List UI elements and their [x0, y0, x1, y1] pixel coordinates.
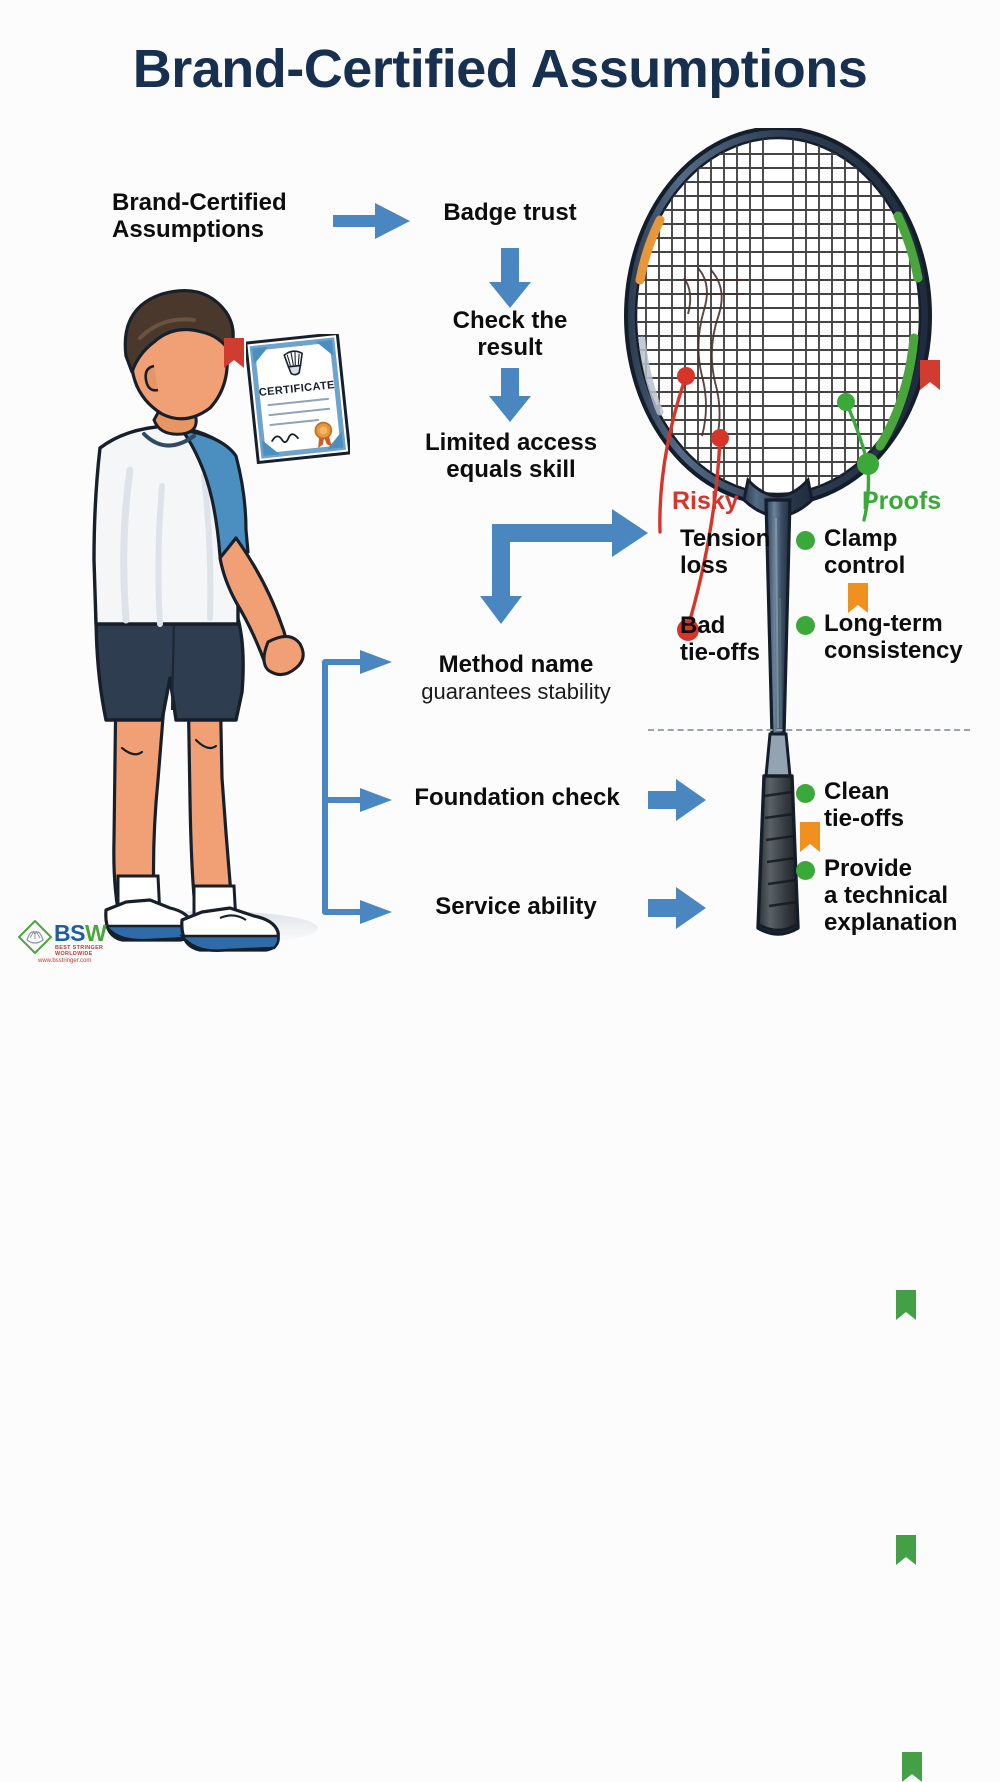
- proofs-list-item-clean-tie-offs[interactable]: Clean tie-offs: [796, 778, 946, 832]
- flow-node-label: Method name: [396, 652, 636, 679]
- proofs-bullet-green-icon: [796, 531, 815, 550]
- risky-list-item-bad-tie-offs[interactable]: Bad tie-offs: [652, 612, 772, 666]
- page-title: Brand-Certified Assumptions: [0, 38, 1000, 100]
- flow-node-sublabel: guarantees stability: [396, 679, 636, 704]
- bookmark-orange-icon: [848, 583, 868, 613]
- risky-list-item-tension-loss[interactable]: Tension loss: [652, 525, 767, 579]
- bsw-logo-wordmark: BSW: [54, 920, 106, 947]
- proofs-item-label: Provide a technical explanation: [824, 855, 957, 936]
- bsw-logo-url: www.bsstringer.com: [38, 958, 91, 964]
- proofs-list-item-long-term-consistency[interactable]: Long-term consistency: [796, 610, 966, 664]
- bookmark-red-icon: [224, 338, 244, 368]
- proofs-bullet-green-icon: [796, 616, 815, 635]
- logo-letter-s: S: [70, 920, 85, 946]
- arrow-badge-to-check: [489, 248, 531, 308]
- flow-node-label: Badge trust: [420, 200, 600, 227]
- flow-node-check-the-result[interactable]: Check the result: [420, 308, 600, 362]
- proofs-bullet-green-icon: [796, 861, 815, 880]
- flow-node-method-name[interactable]: Method name guarantees stability: [396, 652, 636, 704]
- flow-node-label: Service ability: [396, 894, 636, 921]
- bookmark-red-icon: [920, 360, 940, 390]
- proofs-section-divider: [648, 729, 970, 731]
- risky-bullet-none-icon: [652, 531, 671, 550]
- arrow-check-to-limited: [489, 368, 531, 422]
- bookmark-green-icon: [896, 1535, 916, 1565]
- bsw-logo[interactable]: BSW BEST STRINGER WORLDWIDE www.bsstring…: [18, 918, 138, 974]
- certificate-document: CERTIFICATE: [246, 334, 350, 466]
- infographic-canvas: Brand-Certified Assumptions: [0, 0, 1000, 1000]
- flow-node-foundation-check[interactable]: Foundation check: [390, 785, 644, 812]
- flow-node-label: Check the result: [420, 308, 600, 362]
- bookmark-green-icon: [902, 1752, 922, 1782]
- flow-node-badge-trust[interactable]: Badge trust: [420, 200, 600, 227]
- flow-node-brand-certified-assumptions[interactable]: Brand-Certified Assumptions: [112, 190, 337, 244]
- arrow-assumptions-to-badge: [333, 203, 410, 239]
- racket-callout-lines: [598, 128, 958, 688]
- logo-letter-w: W: [85, 920, 106, 946]
- flow-node-service-ability[interactable]: Service ability: [396, 894, 636, 921]
- risky-item-label: Bad tie-offs: [680, 612, 760, 666]
- risky-bullet-placeholder-icon: [652, 618, 671, 637]
- bsw-logo-tagline: BEST STRINGER WORLDWIDE: [55, 945, 138, 957]
- proofs-list-item-clamp-control[interactable]: Clamp control: [796, 525, 946, 579]
- flow-node-label: Brand-Certified Assumptions: [112, 190, 337, 244]
- flow-node-label: Foundation check: [390, 785, 644, 812]
- risky-column-header: Risky: [672, 487, 739, 516]
- proofs-column-header: Proofs: [862, 487, 941, 516]
- logo-letter-b: B: [54, 920, 70, 946]
- proofs-item-label: Clean tie-offs: [824, 778, 904, 832]
- proofs-item-label: Long-term consistency: [824, 610, 963, 664]
- proofs-list-item-provide-technical-explanation[interactable]: Provide a technical explanation: [796, 855, 968, 936]
- bsw-logo-mark-icon: [18, 920, 52, 954]
- proofs-bullet-green-icon: [796, 784, 815, 803]
- bookmark-green-icon: [896, 1290, 916, 1320]
- proofs-item-label: Clamp control: [824, 525, 905, 579]
- flow-node-limited-access-equals-skill[interactable]: Limited access equals skill: [396, 430, 626, 484]
- risky-item-label: Tension loss: [680, 525, 770, 579]
- flow-node-label: Limited access equals skill: [396, 430, 626, 484]
